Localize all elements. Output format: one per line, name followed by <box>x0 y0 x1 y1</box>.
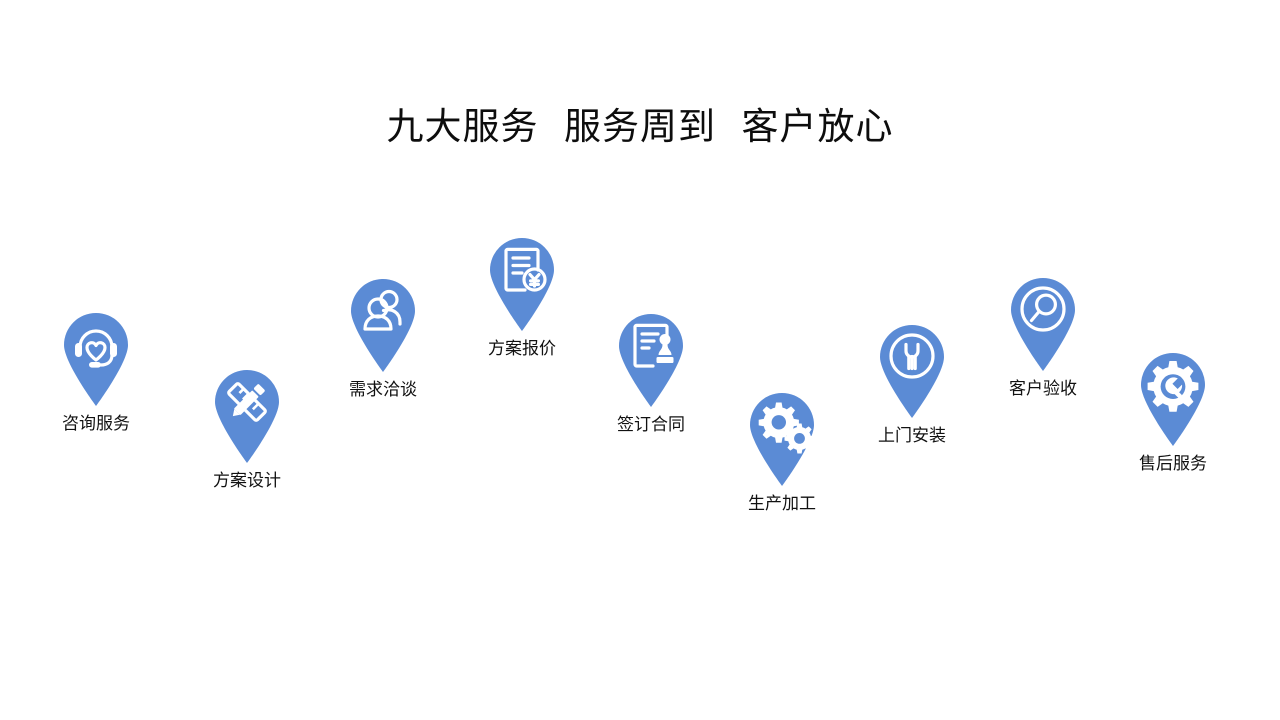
service-pin-9[interactable]: 售后服务 <box>1093 345 1253 476</box>
service-pin-label-2: 方案设计 <box>167 469 327 493</box>
service-pins-group: 咨询服务 <box>0 0 1280 720</box>
map-pin-shape-7 <box>872 317 952 418</box>
service-pin-label-9: 售后服务 <box>1093 452 1253 476</box>
map-pin-shape-3 <box>343 271 423 372</box>
map-pin-shape-1 <box>56 305 136 406</box>
service-pin-1[interactable]: 咨询服务 <box>16 305 176 436</box>
map-pin-shape-4 <box>482 230 562 331</box>
slide-canvas: 九大服务 服务周到 客户放心 咨询服务 <box>0 0 1280 720</box>
map-pin-shape-5 <box>611 306 691 407</box>
map-pin-shape-6 <box>742 385 822 486</box>
service-pin-label-3: 需求洽谈 <box>303 378 463 402</box>
service-pin-label-7: 上门安装 <box>832 424 992 448</box>
map-pin-shape-8 <box>1003 270 1083 371</box>
service-pin-label-6: 生产加工 <box>702 492 862 516</box>
map-pin-shape-2 <box>207 362 287 463</box>
gear-wrench-icon <box>1148 361 1199 412</box>
service-pin-3[interactable]: 需求洽谈 <box>303 271 463 402</box>
service-pin-label-1: 咨询服务 <box>16 412 176 436</box>
map-pin-shape-9 <box>1133 345 1213 446</box>
